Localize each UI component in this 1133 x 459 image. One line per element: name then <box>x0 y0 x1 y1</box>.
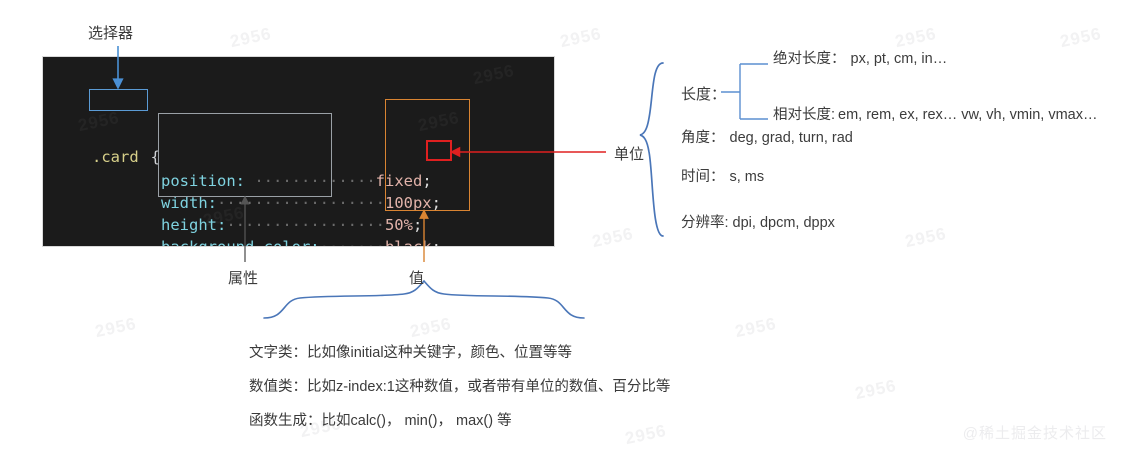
unit-tree-relative-row: 相对长度:em, rem, ex, rex… vw, vh, vmin, vma… <box>773 103 1097 124</box>
unit-tree-time-key: 时间： <box>681 169 725 185</box>
unit-tree-angle-values: deg, grad, turn, rad <box>725 130 853 146</box>
value-label: 值 <box>409 267 424 288</box>
unit-tree-resolution-values: dpi, dpcm, dppx <box>729 215 835 231</box>
unit-tree-length-key: 长度： <box>681 83 726 104</box>
value-type-item: 函数生成：比如calc()， min()， max() 等 <box>249 409 512 430</box>
property-label: 属性 <box>228 267 258 288</box>
unit-tree-relative-values: em, rem, ex, rex… vw, vh, vmin, vmax… <box>835 107 1097 123</box>
unit-tree-resolution-row: 分辨率:dpi, dpcm, dppx <box>681 211 835 232</box>
unit-tree-absolute-key: 绝对长度： <box>773 51 846 67</box>
unit-tree-time-row: 时间：s, ms <box>681 165 764 186</box>
unit-tree-angle-key: 角度： <box>681 130 725 146</box>
value-type-item: 文字类：比如像initial这种关键字，颜色、位置等等 <box>249 341 572 362</box>
unit-tree-relative-key: 相对长度: <box>773 107 835 123</box>
diagram-canvas: 2956 2956 2956 2956 2956 2956 2956 2956 … <box>0 0 1133 459</box>
value-type-item: 数值类：比如z-index:1这种数值，或者带有单位的数值、百分比等 <box>249 375 670 396</box>
unit-tree-angle-row: 角度：deg, grad, turn, rad <box>681 126 853 147</box>
unit-tree-resolution-key: 分辨率: <box>681 215 729 231</box>
unit-tree-absolute-row: 绝对长度：px, pt, cm, in… <box>773 47 947 68</box>
selector-label: 选择器 <box>88 22 133 43</box>
unit-label: 单位 <box>614 143 644 164</box>
unit-tree-absolute-values: px, pt, cm, in… <box>846 51 948 67</box>
brand-watermark: @稀土掘金技术社区 <box>963 422 1107 443</box>
unit-tree-time-values: s, ms <box>725 169 765 185</box>
